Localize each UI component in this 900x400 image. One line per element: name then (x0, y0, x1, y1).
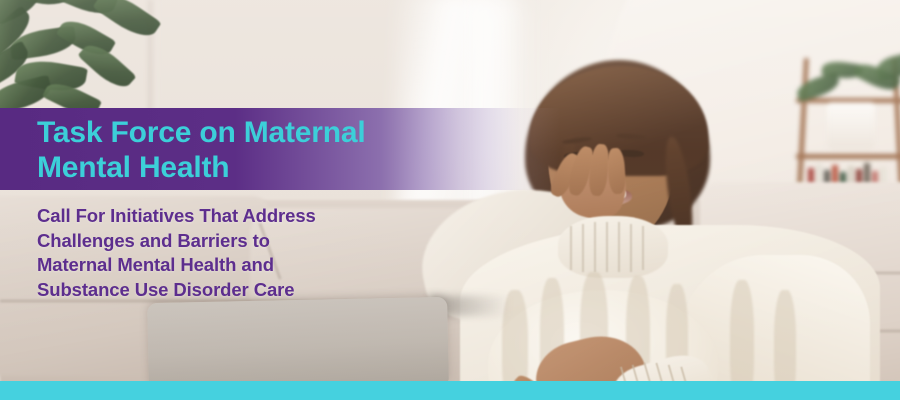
houseplant-icon (0, 0, 182, 113)
collar-rib (594, 222, 596, 272)
collar-rib (582, 224, 584, 272)
maternal-mental-health-banner: Task Force on Maternal Mental Health Cal… (0, 0, 900, 400)
background-photo (0, 0, 900, 381)
knit-cable (774, 290, 796, 381)
page-title: Task Force on Maternal Mental Health (37, 115, 507, 185)
turtleneck-collar (558, 216, 668, 278)
collar-rib (606, 222, 608, 272)
footer-accent-bar (0, 381, 900, 400)
collar-rib (642, 226, 644, 270)
page-subtitle: Call For Initiatives That Address Challe… (37, 204, 467, 302)
knit-cable (730, 280, 754, 381)
collar-rib (630, 224, 632, 272)
pregnant-woman-subject (430, 40, 900, 381)
collar-rib (618, 222, 620, 272)
laptop-icon (147, 297, 449, 381)
collar-rib (570, 226, 572, 270)
